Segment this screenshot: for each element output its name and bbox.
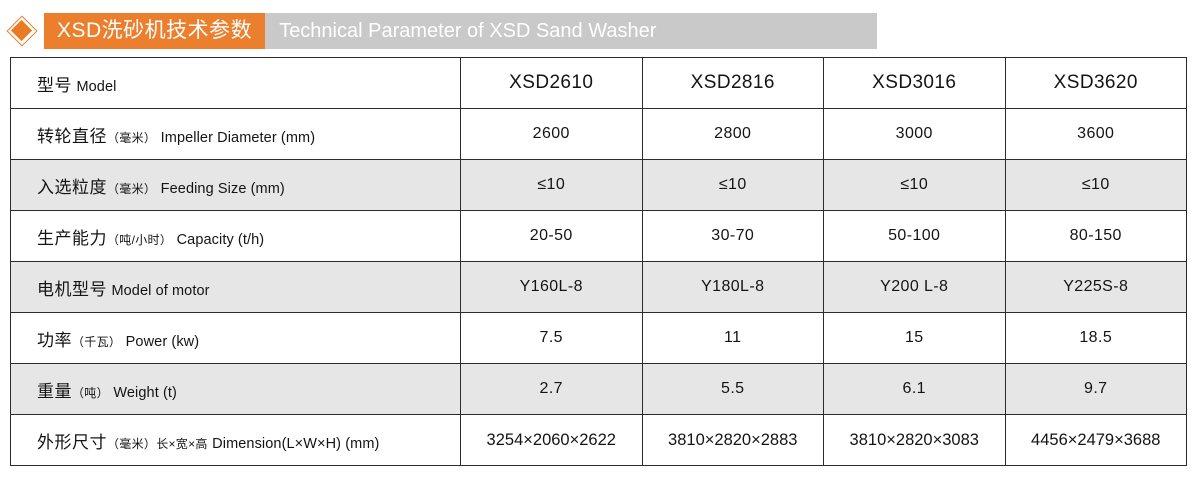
row-label-unit: （千瓦） — [72, 335, 121, 349]
table-cell: 18.5 — [1005, 313, 1187, 364]
row-label: 转轮直径（毫米） Impeller Diameter (mm) — [11, 109, 461, 160]
table-cell: XSD2610 — [461, 58, 643, 109]
table-cell: 3810×2820×3083 — [824, 415, 1006, 466]
diamond-icon — [0, 13, 44, 49]
row-label: 功率（千瓦） Power (kw) — [11, 313, 461, 364]
table-cell: 20-50 — [461, 211, 643, 262]
row-label: 重量（吨） Weight (t) — [11, 364, 461, 415]
row-label-cn: 型号 — [37, 76, 72, 95]
table-cell: 50-100 — [824, 211, 1006, 262]
table-row: 入选粒度（毫米） Feeding Size (mm)≤10≤10≤10≤10 — [11, 160, 1187, 211]
table-cell: 80-150 — [1005, 211, 1187, 262]
table-cell: ≤10 — [461, 160, 643, 211]
row-label: 生产能力（吨/小时） Capacity (t/h) — [11, 211, 461, 262]
row-label-cn: 入选粒度 — [37, 178, 107, 197]
table-cell: 3600 — [1005, 109, 1187, 160]
row-label: 入选粒度（毫米） Feeding Size (mm) — [11, 160, 461, 211]
row-label-en: Power (kw) — [126, 334, 200, 350]
spec-sheet-page: XSD洗砂机技术参数 Technical Parameter of XSD Sa… — [0, 0, 1196, 479]
table-cell: ≤10 — [642, 160, 824, 211]
row-label-cn: 生产能力 — [37, 229, 107, 248]
table-cell: 3000 — [824, 109, 1006, 160]
row-label-cn: 转轮直径 — [37, 127, 107, 146]
page-title-en: Technical Parameter of XSD Sand Washer — [265, 13, 877, 49]
row-label-cn: 重量 — [37, 382, 72, 401]
row-label: 外形尺寸（毫米）长×宽×高 Dimension(L×W×H) (mm) — [11, 415, 461, 466]
row-label-en: Model — [76, 79, 116, 95]
table-cell: 6.1 — [824, 364, 1006, 415]
spec-table-wrap: 型号 ModelXSD2610XSD2816XSD3016XSD3620转轮直径… — [10, 57, 1186, 466]
row-label-en: Model of motor — [111, 283, 209, 299]
page-title-cn: XSD洗砂机技术参数 — [44, 13, 265, 49]
table-cell: 5.5 — [642, 364, 824, 415]
table-cell: 2.7 — [461, 364, 643, 415]
table-cell: 2800 — [642, 109, 824, 160]
table-cell: 15 — [824, 313, 1006, 364]
table-cell: Y200 L-8 — [824, 262, 1006, 313]
table-row: 功率（千瓦） Power (kw)7.5111518.5 — [11, 313, 1187, 364]
row-label: 型号 Model — [11, 58, 461, 109]
table-row: 转轮直径（毫米） Impeller Diameter (mm)260028003… — [11, 109, 1187, 160]
table-cell: Y160L-8 — [461, 262, 643, 313]
row-label-en: Capacity (t/h) — [177, 232, 265, 248]
table-cell: 4456×2479×3688 — [1005, 415, 1187, 466]
row-label-unit: （吨/小时） — [107, 233, 172, 247]
table-cell: 7.5 — [461, 313, 643, 364]
table-row: 型号 ModelXSD2610XSD2816XSD3016XSD3620 — [11, 58, 1187, 109]
table-row: 生产能力（吨/小时） Capacity (t/h)20-5030-7050-10… — [11, 211, 1187, 262]
row-label-en: Weight (t) — [113, 385, 177, 401]
table-row: 外形尺寸（毫米）长×宽×高 Dimension(L×W×H) (mm)3254×… — [11, 415, 1187, 466]
table-cell: ≤10 — [1005, 160, 1187, 211]
row-label-en: Feeding Size (mm) — [161, 181, 285, 197]
table-row: 电机型号 Model of motorY160L-8Y180L-8Y200 L-… — [11, 262, 1187, 313]
table-cell: Y180L-8 — [642, 262, 824, 313]
table-cell: Y225S-8 — [1005, 262, 1187, 313]
row-label-en: Impeller Diameter (mm) — [161, 130, 315, 146]
row-label-unit: （吨） — [72, 386, 109, 400]
table-cell: 11 — [642, 313, 824, 364]
table-cell: ≤10 — [824, 160, 1006, 211]
table-cell: XSD2816 — [642, 58, 824, 109]
row-label-cn: 外形尺寸 — [37, 433, 107, 452]
row-label: 电机型号 Model of motor — [11, 262, 461, 313]
row-label-en: Dimension(L×W×H) (mm) — [212, 436, 379, 452]
table-cell: 3254×2060×2622 — [461, 415, 643, 466]
table-cell: XSD3620 — [1005, 58, 1187, 109]
row-label-unit: （毫米） — [107, 182, 156, 196]
table-cell: XSD3016 — [824, 58, 1006, 109]
row-label-unit: （毫米）长×宽×高 — [107, 437, 208, 451]
table-cell: 2600 — [461, 109, 643, 160]
table-row: 重量（吨） Weight (t)2.75.56.19.7 — [11, 364, 1187, 415]
row-label-unit: （毫米） — [107, 131, 156, 145]
row-label-cn: 电机型号 — [37, 280, 107, 299]
table-cell: 30-70 — [642, 211, 824, 262]
page-header: XSD洗砂机技术参数 Technical Parameter of XSD Sa… — [0, 13, 1196, 49]
table-cell: 3810×2820×2883 — [642, 415, 824, 466]
row-label-cn: 功率 — [37, 331, 72, 350]
table-cell: 9.7 — [1005, 364, 1187, 415]
spec-table: 型号 ModelXSD2610XSD2816XSD3016XSD3620转轮直径… — [10, 57, 1187, 466]
